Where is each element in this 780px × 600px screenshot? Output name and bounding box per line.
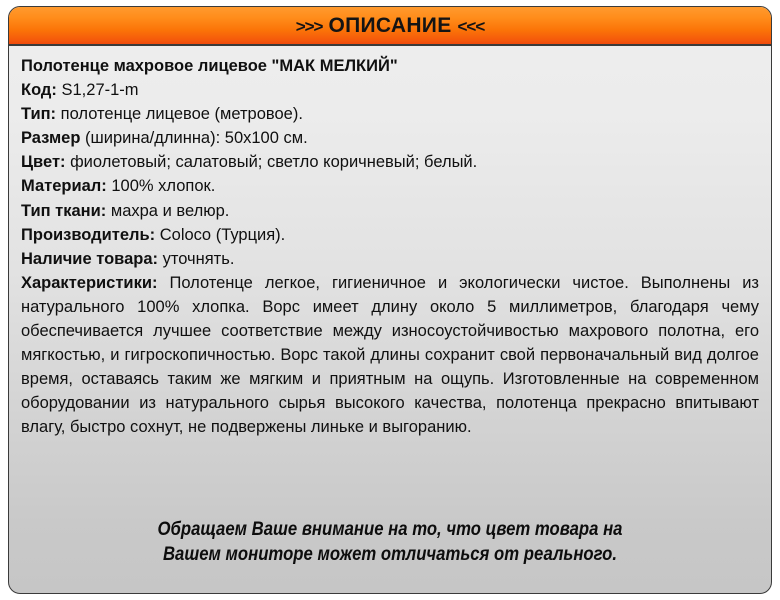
description-header: >>> ОПИСАНИЕ <<< <box>9 7 771 46</box>
color-disclaimer-notice: Обращаем Ваше внимание на то, что цвет т… <box>65 517 714 567</box>
characteristics-text: Полотенце легкое, гигиеничное и экологич… <box>21 274 759 437</box>
spec-value: уточнять. <box>163 250 235 268</box>
description-body: Полотенце махровое лицевое "МАК МЕЛКИЙ" … <box>9 46 771 593</box>
spec-value: (ширина/длинна): 50х100 см. <box>85 129 308 147</box>
spec-label: Материал: <box>21 177 107 195</box>
characteristics-block: Характеристики: Полотенце легкое, гигиен… <box>21 271 759 440</box>
spec-value: S1,27-1-m <box>62 81 139 99</box>
spec-label: Наличие товара: <box>21 250 158 268</box>
spec-list: Код: S1,27-1-m Тип: полотенце лицевое (м… <box>21 78 759 271</box>
spec-value: фиолетовый; салатовый; светло коричневый… <box>70 153 477 171</box>
header-title-text: ОПИСАНИЕ <box>329 14 452 38</box>
product-title: Полотенце махровое лицевое "МАК МЕЛКИЙ" <box>21 54 759 78</box>
spec-label: Тип ткани: <box>21 202 106 220</box>
spec-row: Материал: 100% хлопок. <box>21 174 759 198</box>
spec-value: махра и велюр. <box>111 202 229 220</box>
spec-value: Coloco (Турция). <box>160 226 286 244</box>
spec-row: Размер (ширина/длинна): 50х100 см. <box>21 126 759 150</box>
spec-label: Цвет: <box>21 153 66 171</box>
spec-label: Размер <box>21 129 80 147</box>
spec-row: Тип ткани: махра и велюр. <box>21 199 759 223</box>
spec-row: Производитель: Coloco (Турция). <box>21 223 759 247</box>
spec-value: полотенце лицевое (метровое). <box>61 105 303 123</box>
left-chevrons-icon: >>> <box>296 17 323 37</box>
notice-line-2: Вашем мониторе может отличаться от реаль… <box>65 542 714 567</box>
spec-value: 100% хлопок. <box>111 177 215 195</box>
description-card: >>> ОПИСАНИЕ <<< Полотенце махровое лице… <box>8 6 772 594</box>
notice-line-1: Обращаем Ваше внимание на то, что цвет т… <box>65 517 714 542</box>
spec-label: Код: <box>21 81 57 99</box>
spec-label: Производитель: <box>21 226 155 244</box>
spec-row: Код: S1,27-1-m <box>21 78 759 102</box>
right-chevrons-icon: <<< <box>458 17 485 37</box>
spec-label: Тип: <box>21 105 56 123</box>
header-title: >>> ОПИСАНИЕ <<< <box>296 14 485 38</box>
characteristics-label: Характеристики: <box>21 274 157 292</box>
spec-row: Наличие товара: уточнять. <box>21 247 759 271</box>
spec-row: Цвет: фиолетовый; салатовый; светло кори… <box>21 150 759 174</box>
spec-row: Тип: полотенце лицевое (метровое). <box>21 102 759 126</box>
